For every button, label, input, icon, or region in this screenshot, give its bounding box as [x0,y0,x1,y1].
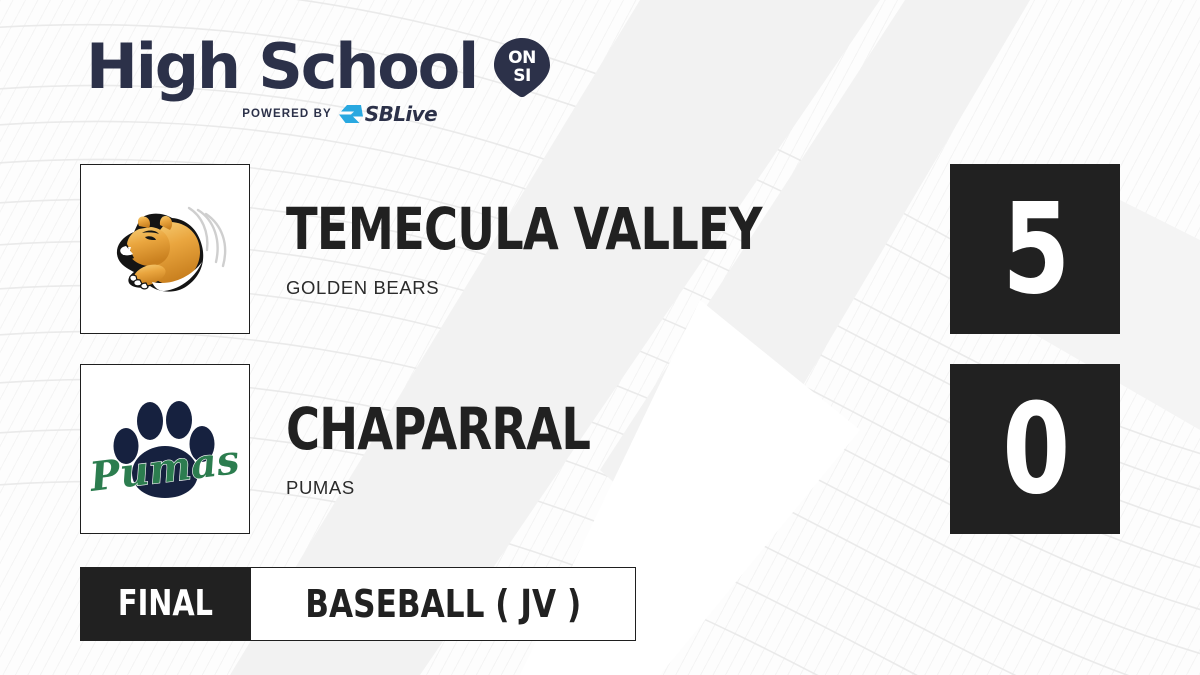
team-info: TEMECULA VALLEY GOLDEN BEARS [286,164,881,334]
team-score-box: 5 [950,164,1120,334]
team-mascot: GOLDEN BEARS [286,277,881,299]
brand-logo: High School ON SI POWERED BY SBLive [86,36,553,124]
status-label: FINAL [118,586,213,622]
team-mascot: PUMAS [286,477,666,499]
team-logo-card [80,164,250,334]
golden-bear-mascot-logo-icon [90,174,240,324]
scoreboard-graphic: High School ON SI POWERED BY SBLive [0,0,1200,675]
svg-text:Pumas: Pumas [90,436,240,501]
team-info: CHAPARRAL PUMAS [286,364,666,534]
powered-by-label: POWERED BY [242,108,332,120]
powered-by-block: POWERED BY SBLive [86,104,553,124]
team-name: TEMECULA VALLEY [286,200,762,258]
team-score: 0 [1002,387,1068,512]
team-score-box: 0 [950,364,1120,534]
svg-text:ON: ON [508,48,536,68]
sblive-s-icon [339,104,363,124]
on-si-pin-icon: ON SI [491,36,553,98]
team-name: CHAPARRAL [286,400,590,458]
sblive-logo: SBLive [339,104,437,124]
game-status-bar: FINAL BASEBALL ( JV ) [80,567,636,641]
page-title: High School [86,38,477,97]
status-badge: FINAL [80,567,251,641]
sport-label-box: BASEBALL ( JV ) [251,567,636,641]
team-logo-card: Pumas [80,364,250,534]
sblive-wordmark: SBLive [365,104,437,124]
team-score: 5 [1002,187,1068,312]
puma-paw-print-logo-icon: Pumas [90,374,240,524]
svg-text:SI: SI [513,66,531,86]
sport-label: BASEBALL ( JV ) [305,585,581,623]
